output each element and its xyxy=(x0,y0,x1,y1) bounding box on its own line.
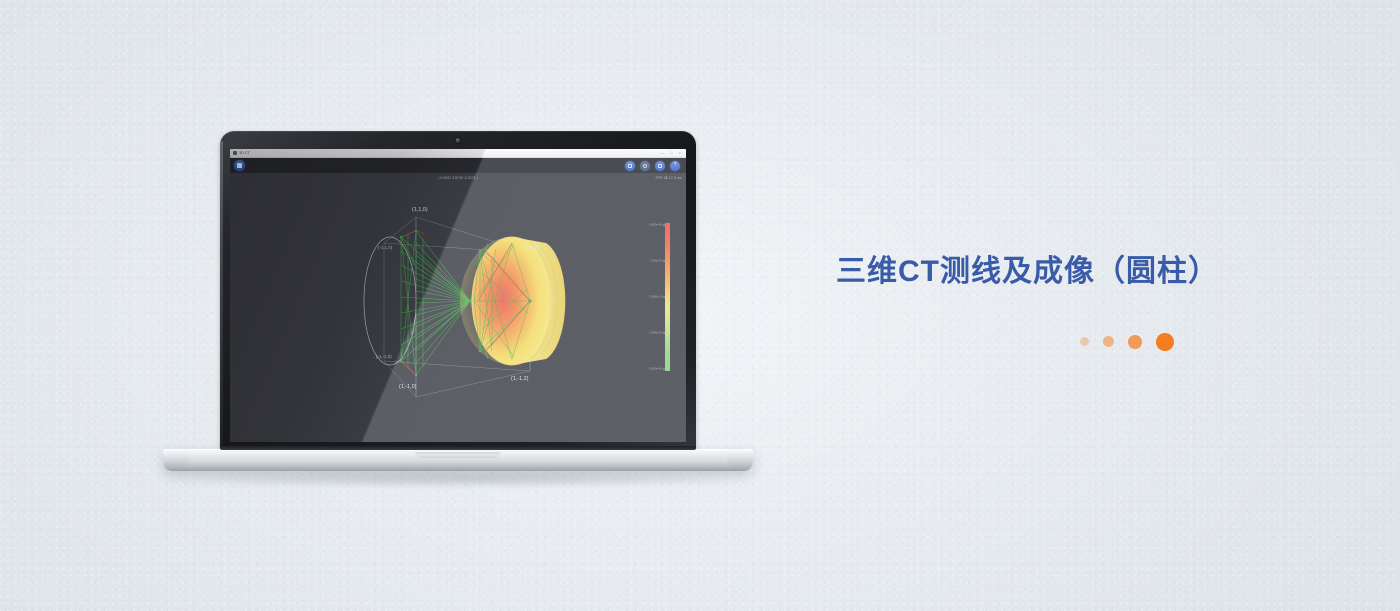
tick-mark xyxy=(663,261,665,262)
tick-mark xyxy=(663,225,665,226)
label-corner-bottom-left: (1,-1,0) xyxy=(399,384,417,390)
minimize-icon[interactable]: — xyxy=(660,151,664,155)
app-window-icon xyxy=(233,151,237,155)
label-corner-top-right: (1,1,2) xyxy=(523,245,539,251)
carousel-dot-4-active[interactable] xyxy=(1156,333,1174,351)
window-titlebar: 3D CT — □ × xyxy=(230,149,686,158)
colorbar-tick: 7.5000e-01 xyxy=(649,260,665,263)
titlebar-left: 3D CT xyxy=(233,151,250,155)
laptop-base-left-edge xyxy=(163,449,189,469)
label-corner-bottom-right: (1,-1,2) xyxy=(511,376,529,382)
camera-icon[interactable] xyxy=(655,161,665,171)
carousel-dot-2[interactable] xyxy=(1103,336,1114,347)
laptop-shadow xyxy=(175,471,745,487)
three-d-viewport[interactable]: ( 0.0622 3.5749 -0.0271 ) FPS 36 17.3 ms xyxy=(230,173,686,442)
page-title: 三维CT测线及成像（圆柱） xyxy=(836,253,1256,291)
app-toolbar: ? xyxy=(230,158,686,173)
colorbar-tick: 5.0000e-01 xyxy=(649,296,665,299)
colorbar-ticks: 1.0000e+00 7.5000e-01 5.0000e-01 2. xyxy=(648,223,665,371)
laptop-mockup: 3D CT — □ × ? ( 0.06 xyxy=(163,131,753,471)
ct-visualization xyxy=(230,173,686,442)
laptop-base xyxy=(163,449,753,471)
tick-mark xyxy=(663,369,665,370)
app-logo-icon[interactable] xyxy=(234,160,245,171)
carousel-dot-1[interactable] xyxy=(1080,337,1089,346)
help-icon[interactable]: ? xyxy=(670,161,680,171)
colorbar: 1.0000e+00 7.5000e-01 5.0000e-01 2. xyxy=(648,223,670,371)
label-corner-top-left: (1,1,0) xyxy=(412,207,428,213)
window-controls: — □ × xyxy=(660,151,684,155)
laptop-lid: 3D CT — □ × ? ( 0.06 xyxy=(220,131,696,451)
carousel-dot-3[interactable] xyxy=(1128,335,1142,349)
refresh-icon[interactable] xyxy=(640,161,650,171)
toolbar-icon-group: ? xyxy=(625,161,680,171)
webcam-icon xyxy=(456,138,461,143)
colorbar-gradient xyxy=(665,223,670,371)
close-icon[interactable]: × xyxy=(679,151,681,155)
ray-lines-left xyxy=(401,231,470,375)
label-corner-top-left-back: (-1,1,0) xyxy=(378,245,392,250)
maximize-icon[interactable]: □ xyxy=(670,151,672,155)
right-content: 三维CT测线及成像（圆柱） xyxy=(836,253,1256,351)
label-corner-bottom-left-back: (-1,-1,0) xyxy=(376,354,392,359)
carousel-dots xyxy=(836,333,1256,351)
tick-mark xyxy=(663,333,665,334)
settings-icon[interactable] xyxy=(625,161,635,171)
laptop-base-notch xyxy=(415,451,501,458)
laptop-screen: 3D CT — □ × ? ( 0.06 xyxy=(230,149,686,442)
window-title: 3D CT xyxy=(239,151,250,155)
colorbar-tick: 1.0000e+00 xyxy=(649,224,665,227)
tick-mark xyxy=(663,297,665,298)
laptop-base-right-edge xyxy=(727,449,753,469)
colorbar-tick: 0.0000e+00 xyxy=(649,368,665,371)
colorbar-tick: 2.5000e-01 xyxy=(649,332,665,335)
